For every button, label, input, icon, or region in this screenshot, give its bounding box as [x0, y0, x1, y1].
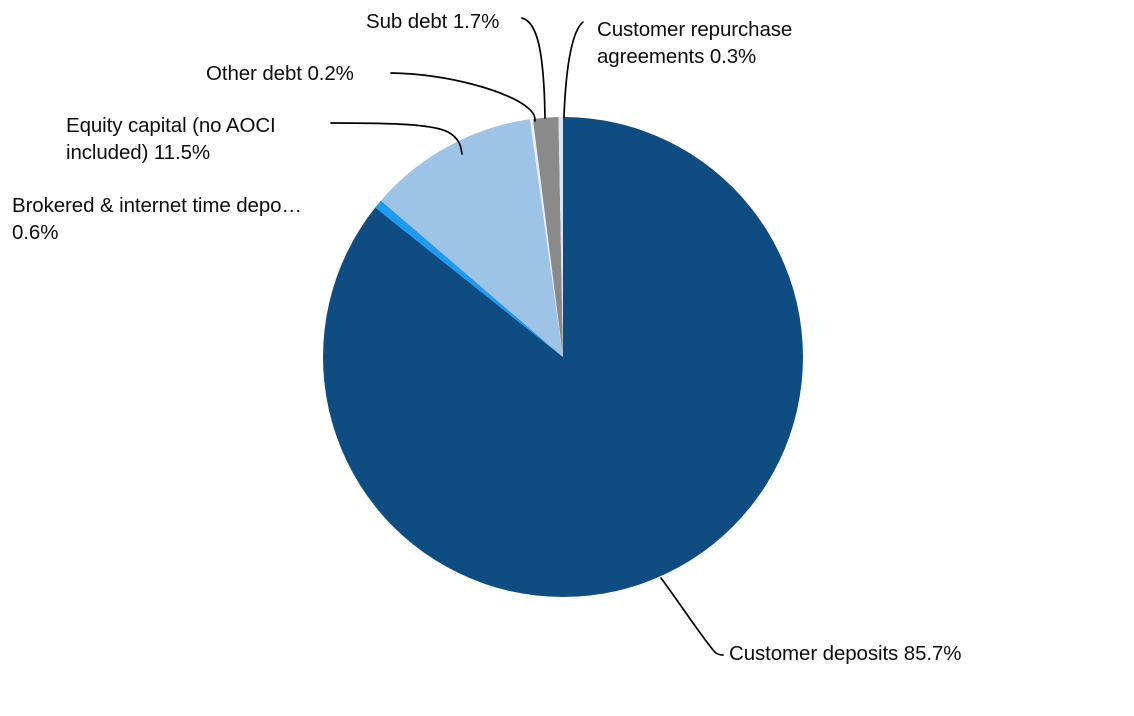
leader-line-customer-repo [564, 22, 583, 117]
pie-slices [323, 117, 803, 597]
pie-label-brokered-internet-time-deposits: Brokered & internet time depo… 0.6% [12, 192, 342, 246]
leader-line-equity-capital [331, 123, 462, 154]
pie-label-customer-deposits: Customer deposits 85.7% [729, 640, 961, 667]
leader-line-other-debt [391, 73, 535, 121]
pie-label-sub-debt: Sub debt 1.7% [366, 8, 499, 35]
leader-line-sub-debt [522, 18, 545, 118]
leader-line-customer-deposits [661, 578, 723, 655]
pie-chart [0, 0, 1134, 716]
pie-label-other-debt: Other debt 0.2% [206, 60, 354, 87]
pie-label-customer-repurchase-agreements: Customer repurchase agreements 0.3% [597, 16, 837, 70]
chart-canvas: Sub debt 1.7% Customer repurchase agreem… [0, 0, 1134, 716]
pie-label-equity-capital: Equity capital (no AOCI included) 11.5% [66, 112, 326, 166]
